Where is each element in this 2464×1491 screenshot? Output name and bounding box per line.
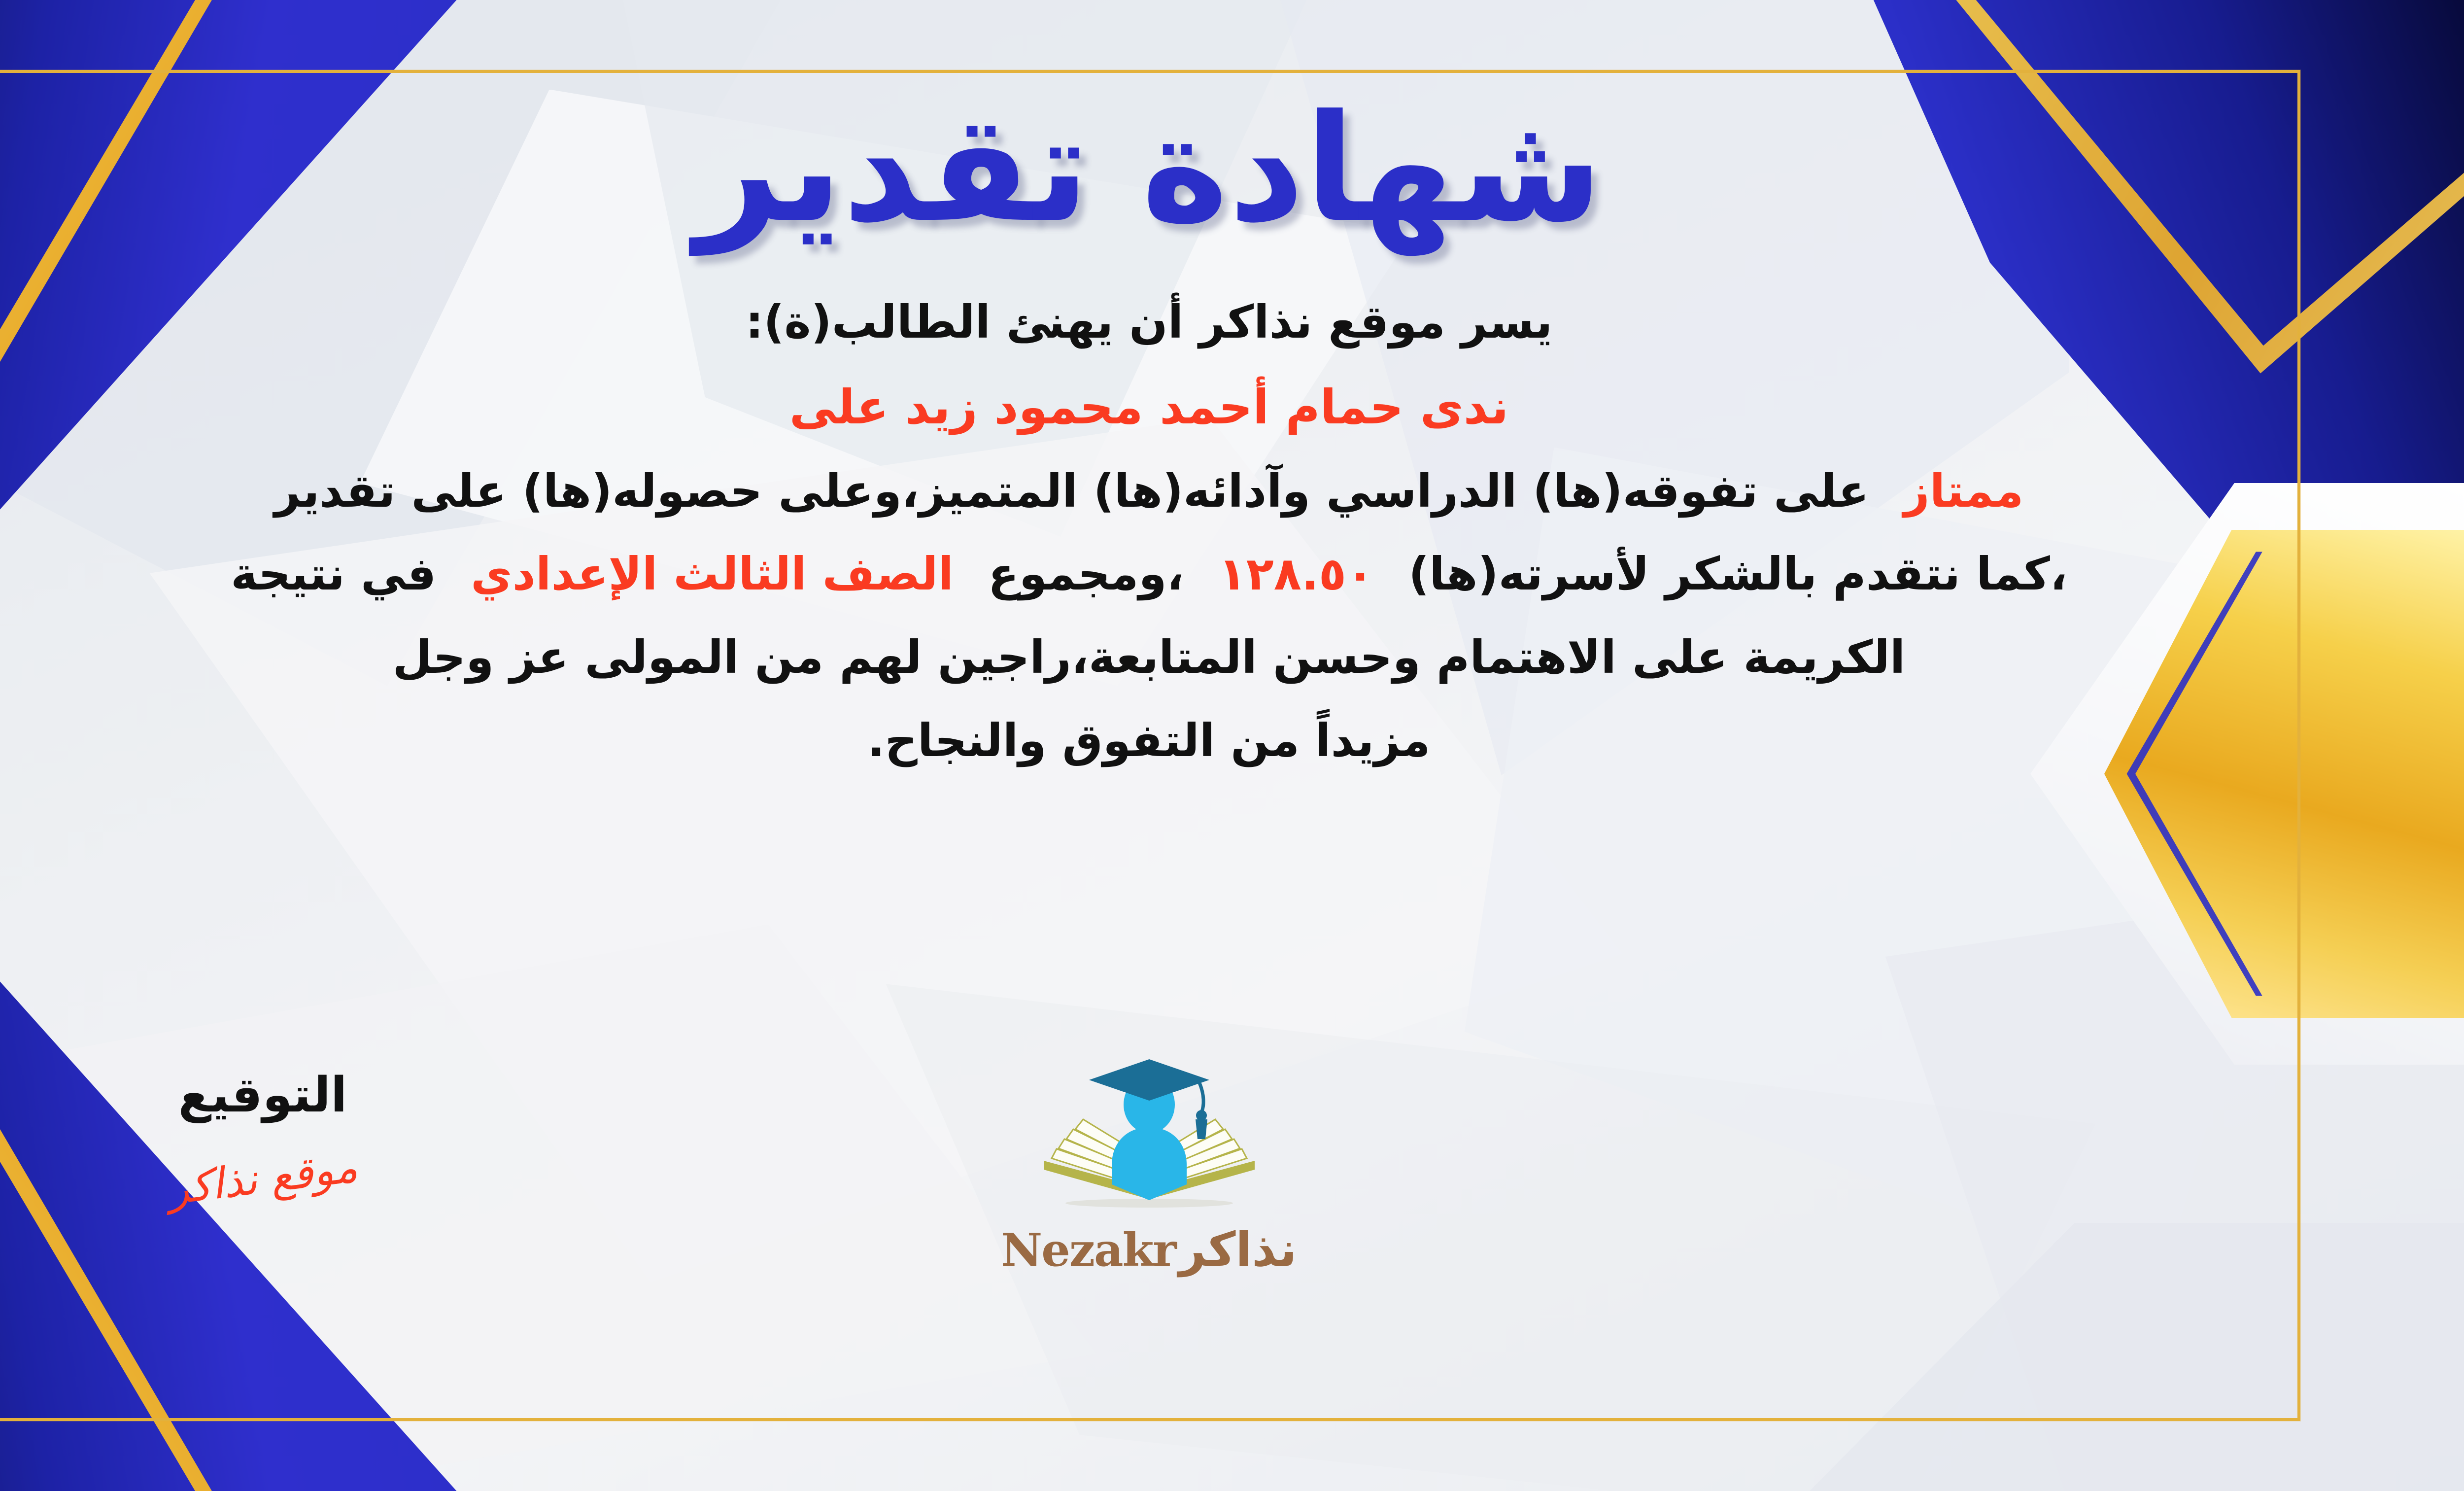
site-logo: Nezakr نذاكر [992, 1057, 1307, 1277]
achievement-text: على تفوقه(ها) الدراسي وآدائه(ها) المتميز… [274, 465, 1869, 518]
certificate-page: شهادة تقدير يسر موقع نذاكر أن يهنئ الطال… [0, 0, 2464, 1491]
student-name: ندى حمام أحمد محمود زيد على [11, 372, 2287, 444]
achievement-paragraph: ممتازعلى تفوقه(ها) الدراسي وآدائه(ها) ال… [11, 456, 2287, 527]
intro-line: يسر موقع نذاكر أن يهنئ الطالب(ة): [11, 288, 2287, 357]
signature-label: التوقيع [75, 1067, 450, 1123]
result-middle: ،ومجموع [988, 548, 1184, 600]
certificate-footer: التوقيع موقع نذاكر [11, 1067, 2287, 1373]
signature-script: موقع نذاكر [74, 1131, 452, 1226]
thanks-line: الكريمة على الاهتمام وحسن المتابعة،راجين… [11, 623, 2287, 693]
logo-wordmark: Nezakr نذاكر [1001, 1222, 1297, 1277]
logo-arabic-text: نذاكر [1179, 1222, 1297, 1277]
signature-block: التوقيع موقع نذاكر [75, 1067, 450, 1203]
result-suffix: في نتيجة [231, 548, 436, 600]
certificate-title: شهادة تقدير [695, 94, 1603, 244]
closing-line: مزيداً من التفوق والنجاح. [11, 706, 2287, 776]
graduate-book-logo-icon [1026, 1057, 1272, 1220]
result-prefix: ،كما نتقدم بالشكر لأسرته(ها) [1408, 548, 2067, 600]
total-score: ١٢٨.٥٠ [1218, 548, 1374, 600]
result-paragraph: ،كما نتقدم بالشكر لأسرته(ها)١٢٨.٥٠،ومجمو… [11, 539, 2287, 610]
certificate-content: شهادة تقدير يسر موقع نذاكر أن يهنئ الطال… [11, 74, 2287, 1417]
class-name: الصف الثالث الإعدادي [471, 548, 954, 600]
grade-word: ممتاز [1904, 465, 2024, 518]
certificate-body: يسر موقع نذاكر أن يهنئ الطالب(ة): ندى حم… [11, 288, 2287, 776]
logo-latin-text: Nezakr [1001, 1223, 1176, 1277]
